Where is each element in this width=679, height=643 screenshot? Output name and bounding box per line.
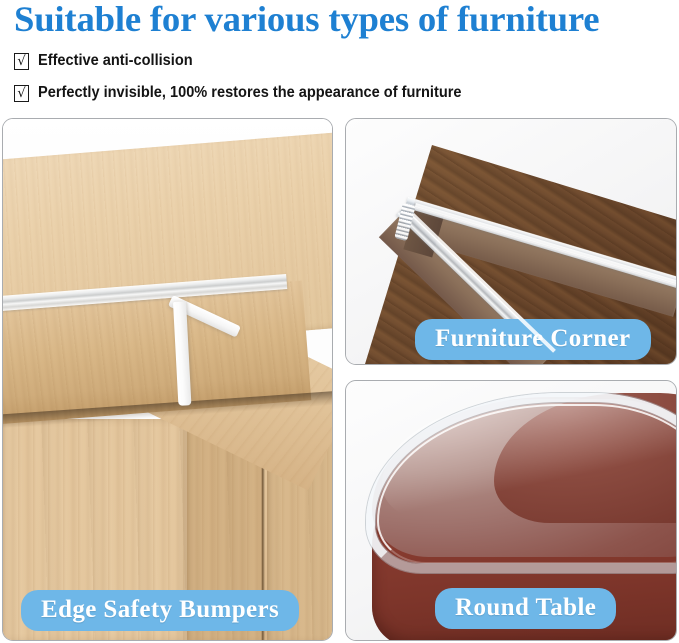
header: Suitable for various types of furniture … <box>0 0 679 115</box>
checkmark-icon: √ <box>14 53 29 70</box>
checkmark-icon: √ <box>14 85 29 102</box>
badge-edge-safety-bumpers: Edge Safety Bumpers <box>21 590 299 631</box>
badge-furniture-corner: Furniture Corner <box>415 319 651 360</box>
panel-edge-safety-bumpers: Edge Safety Bumpers <box>2 118 333 641</box>
feature-bullet-label: Effective anti-collision <box>38 52 193 70</box>
product-infographic: Suitable for various types of furniture … <box>0 0 679 643</box>
feature-bullet: √ Effective anti-collision <box>14 51 203 71</box>
panel-round-table: Round Table <box>345 380 677 641</box>
badge-round-table: Round Table <box>435 588 616 629</box>
page-title: Suitable for various types of furniture <box>14 0 679 40</box>
panel-furniture-corner: Furniture Corner <box>345 118 677 365</box>
photo-edge-safety-bumpers <box>3 119 332 640</box>
feature-bullet: √ Perfectly invisible, 100% restores the… <box>14 83 489 103</box>
feature-bullet-label: Perfectly invisible, 100% restores the a… <box>38 84 461 102</box>
oak-desk-illustration <box>3 119 332 640</box>
